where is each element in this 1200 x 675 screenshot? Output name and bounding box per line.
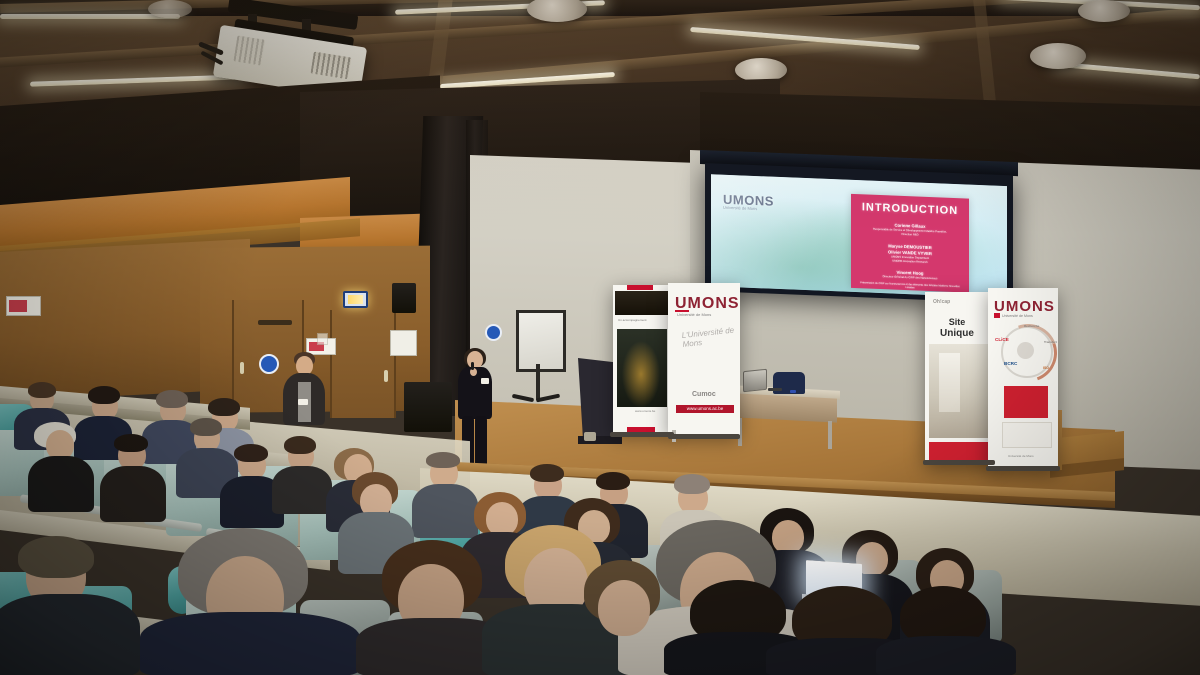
projection-screen-frame: UMONS Université de Mons INTRODUCTION Co… — [705, 163, 1013, 303]
banner-right-red-footer — [929, 442, 991, 462]
banner-left-dark-strip — [615, 291, 669, 315]
auditorium-photo: UMONS Université de Mons INTRODUCTION Co… — [0, 0, 1200, 675]
banner-right-footer-text: Université de Mons — [1008, 454, 1034, 458]
person-body-2g — [412, 484, 478, 538]
person-hair-2c — [190, 418, 222, 436]
banner-left-brand-sub: Université de Mons — [677, 312, 711, 317]
person-body-2b — [100, 466, 166, 522]
diagram-core — [1017, 342, 1034, 359]
banner-right-base-1 — [923, 460, 995, 465]
slide-pink-panel: INTRODUCTION Corinne Gillaux Responsable… — [851, 194, 969, 293]
person-body-f8 — [876, 636, 1016, 675]
banner-umons-left: UMONS Université de Mons L'Université de… — [668, 283, 740, 435]
door-kickplate — [258, 320, 292, 325]
person-head-3b — [486, 502, 518, 536]
speaker-leg-right — [475, 416, 487, 468]
slide-umons-logo: UMONS Université de Mons — [723, 193, 774, 212]
banner-right-heading-bottom: Unique — [925, 328, 989, 339]
projector-lens-side — [233, 35, 265, 65]
standing-man-badge — [298, 399, 308, 405]
person-hair-b2 — [88, 386, 120, 404]
person-hair-b4 — [208, 398, 240, 416]
table-object-2 — [790, 390, 796, 393]
person-hair-b1 — [28, 382, 56, 398]
banner-left-url-small: www.umons.be — [635, 409, 655, 413]
person-hair-2j — [674, 474, 710, 494]
person-hair-2e — [284, 436, 316, 454]
person-hair-2h — [530, 464, 564, 482]
banner-right-interior-photo — [929, 344, 991, 438]
floor-speaker-box — [404, 382, 452, 432]
diagram-tag-clice: CLiCE — [995, 337, 1009, 342]
banner-right-red-textbox — [1004, 386, 1048, 418]
diagram-tag-right: Transfert — [1044, 340, 1057, 344]
door-handle-right[interactable] — [384, 370, 388, 382]
wall-plaster-far-right — [1090, 170, 1200, 460]
whiteboard-post — [536, 364, 540, 400]
microphone — [471, 362, 474, 370]
banner-left-url: www.umons.ac.be — [676, 405, 734, 413]
person-hair-2b — [114, 434, 148, 452]
person-hair-f9 — [18, 536, 94, 578]
table-leg-right — [828, 421, 832, 449]
banner-site-unique: Oh!cap Site Unique — [925, 292, 995, 464]
table-object-1 — [768, 388, 782, 391]
banner-right-base-2 — [986, 466, 1060, 471]
ceiling-speaker-4 — [1078, 0, 1130, 22]
door-handle-left[interactable] — [240, 362, 244, 374]
projection-screen-surface: UMONS Université de Mons INTRODUCTION Co… — [711, 174, 1007, 298]
presenter-laptop — [743, 369, 767, 393]
wall-sign-small — [317, 333, 328, 345]
ceiling-speaker-5 — [1030, 43, 1086, 69]
person-hair-b3 — [156, 390, 188, 408]
banner-left-photo — [617, 329, 667, 407]
banner-umons-right: UMONS Université de Mons CLiCE BCRC ISO … — [988, 288, 1058, 470]
speaker-name-badge — [481, 378, 489, 384]
person-body-2e — [272, 466, 332, 514]
wall-info-sign — [390, 330, 417, 356]
banner-left-base-2 — [668, 434, 740, 439]
banner-right-heading-top: Site — [925, 318, 989, 328]
person-hair-2i — [596, 472, 630, 490]
slide-title-text: INTRODUCTION — [851, 201, 969, 218]
person-hair-2d — [234, 444, 268, 462]
banner-left-script: L'Université de Mons — [681, 325, 741, 349]
banner-right-mark — [994, 313, 1000, 318]
banner-right-brand-sub: Université de Mons — [1002, 314, 1033, 318]
whiteboard — [516, 310, 566, 372]
ceiling-speaker-6 — [148, 0, 192, 18]
banner-left-rule — [675, 310, 689, 312]
exit-light — [343, 291, 368, 308]
banner-right-logo: Oh!cap — [933, 299, 950, 305]
blue-mandatory-sign-1 — [259, 354, 279, 374]
banner-left-dark-panel: Un accompagnement www.umons.be — [613, 285, 671, 433]
banner-left-footer-brand: Cumoc — [692, 391, 716, 398]
person-head-f5 — [598, 580, 650, 636]
diagram-tag-top: Recherche — [1024, 324, 1039, 328]
wall-speaker — [392, 283, 416, 313]
blue-mandatory-sign-2 — [485, 324, 502, 341]
person-hair-2g — [426, 452, 460, 468]
person-body-blonde — [28, 456, 94, 512]
wall-notice-sign-far-left — [6, 296, 41, 316]
lectern-light — [584, 432, 596, 441]
person-head-3d — [772, 520, 804, 554]
banner-right-brand: UMONS — [994, 298, 1055, 315]
banner-right-white-textbox — [1002, 422, 1052, 448]
banner-left-top-accent — [627, 285, 653, 290]
door-right[interactable] — [330, 310, 396, 418]
person-body-f1 — [140, 612, 360, 675]
person-body-f9 — [0, 594, 140, 675]
diagram-tag-bcrc: BCRC — [1004, 361, 1017, 366]
banner-left-subtitle: Un accompagnement — [618, 318, 647, 322]
diagram-tag-extra: ISO — [1043, 366, 1049, 370]
banner-left-base-1 — [610, 432, 674, 437]
projector-vent — [310, 52, 351, 80]
